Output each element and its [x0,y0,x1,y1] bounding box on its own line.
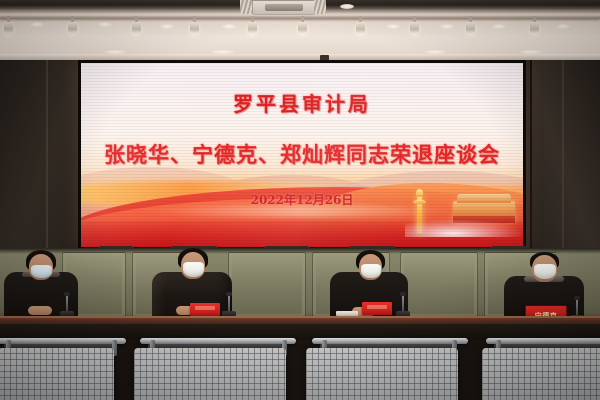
spotlight-icon [298,16,307,36]
ceiling [0,0,600,62]
spotlight-icon [68,16,77,36]
downlight-icon [556,24,570,29]
conference-room-screenshot: 罗平县审计局 张晓华、宁德克、郑灿辉同志荣退座谈会 2022年12月26日 [0,0,600,400]
foreground-seating-row [0,326,600,400]
red-certificate-folder[interactable] [190,303,220,316]
slide-subtitle: 张晓华、宁德克、郑灿辉同志荣退座谈会 [81,139,523,169]
rostrum-table-edge [0,316,600,318]
projector-bracket-left [240,0,252,14]
person-1-hands [28,306,52,315]
spotlight-icon [356,16,365,36]
slide-title: 罗平县审计局 [81,88,523,117]
rostrum-moulding [228,252,306,318]
red-certificate-folder[interactable] [362,302,392,315]
spotlight-icon [466,16,475,36]
person-1-face-mask [31,265,52,278]
downlight-icon [30,22,44,27]
rostrum-moulding [400,252,478,318]
downlight-icon [386,24,400,29]
spotlight-icon [4,16,13,36]
foreground-chair[interactable] [134,348,286,400]
spotlight-icon [190,16,199,36]
foreground-chair[interactable] [482,348,600,400]
downlight-icon [492,24,506,29]
slide-date: 2022年12月26日 [81,191,523,208]
downlight-icon [440,24,454,29]
ceiling-projector [252,0,316,15]
desk-microphone[interactable] [222,292,236,318]
person-3-face-mask [361,264,381,278]
projector-bracket-right [314,0,326,14]
downlight-icon [222,24,236,29]
person-2-face-mask [183,262,204,277]
downlight-icon [98,22,112,27]
led-screen[interactable]: 罗平县审计局 张晓华、宁德克、郑灿辉同志荣退座谈会 2022年12月26日 [81,63,523,247]
downlight-icon [340,4,354,9]
projector-lens [265,4,303,11]
spotlight-icon [248,16,257,36]
downlight-icon [160,24,174,29]
foreground-chair[interactable] [0,348,114,400]
foreground-chair[interactable] [306,348,458,400]
spotlight-icon [132,16,141,36]
spotlight-icon [530,16,539,36]
person-4-face-mask [534,264,556,279]
desk-microphone[interactable] [396,292,410,318]
spotlight-icon [410,16,419,36]
desk-microphone[interactable] [60,292,74,318]
slide-text-block: 罗平县审计局 张晓华、宁德克、郑灿辉同志荣退座谈会 2022年12月26日 [81,63,523,247]
